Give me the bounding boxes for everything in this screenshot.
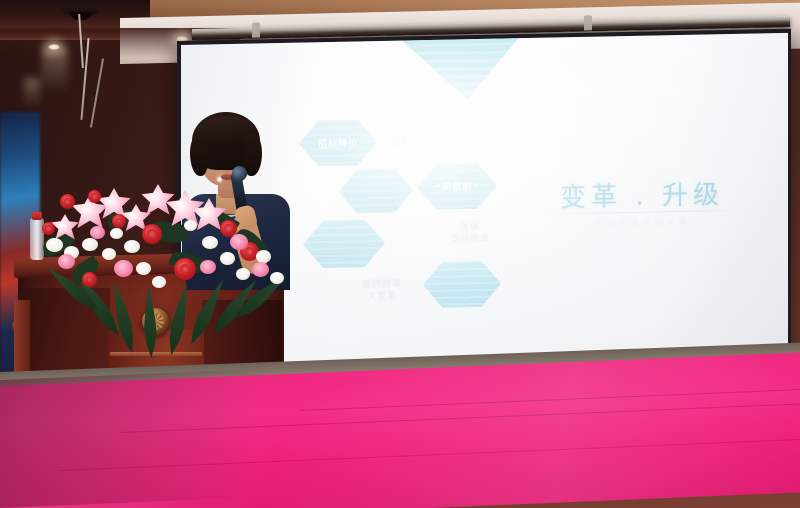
hexagon-label: 招标降价 bbox=[299, 119, 377, 167]
pink-carnation bbox=[90, 226, 105, 239]
caption-medical-insurance-line2: 支付改革 bbox=[429, 232, 511, 246]
pink-carnation bbox=[114, 260, 133, 277]
white-flower bbox=[256, 250, 271, 263]
white-flower bbox=[102, 248, 116, 260]
speaker-hair-side bbox=[244, 134, 262, 176]
pink-carnation bbox=[58, 254, 75, 269]
hexagon-blank-1 bbox=[339, 168, 413, 213]
red-rose bbox=[112, 214, 126, 228]
presentation-photo: 招标降价 “两票制” 辅助用药 医保 支付改革 医药政策 大变革 变革 bbox=[0, 0, 800, 508]
podium-slat bbox=[110, 352, 202, 356]
pink-carnation bbox=[252, 262, 269, 277]
white-flower bbox=[202, 236, 218, 249]
light-cone bbox=[24, 78, 40, 108]
hexagon-two-ticket: “两票制” bbox=[417, 163, 497, 211]
white-flower bbox=[46, 238, 63, 252]
hexagon-blank-3 bbox=[423, 261, 501, 309]
cyan-wedge-stripes bbox=[363, 33, 549, 102]
hex-stripes bbox=[303, 219, 385, 269]
hexagon-blank-2 bbox=[303, 219, 385, 269]
floral-arrangement bbox=[24, 176, 292, 324]
white-flower bbox=[220, 252, 235, 265]
white-flower bbox=[152, 276, 166, 288]
red-rose bbox=[60, 194, 75, 209]
hexagon-bidding: 招标降价 bbox=[299, 119, 377, 167]
red-rose bbox=[42, 222, 55, 235]
white-flower bbox=[236, 268, 250, 280]
red-rose bbox=[174, 258, 196, 280]
hex-stripes bbox=[423, 261, 501, 309]
hexagon-label: “两票制” bbox=[417, 163, 497, 211]
white-flower bbox=[82, 238, 98, 251]
red-rose bbox=[142, 224, 162, 244]
red-rose bbox=[82, 272, 97, 287]
slide-subtitle: 合作共赢共创未来 bbox=[517, 213, 767, 231]
white-flower bbox=[184, 220, 197, 231]
speaker-hair-side bbox=[190, 134, 208, 176]
hex-stripes bbox=[339, 168, 413, 213]
white-flower bbox=[110, 228, 123, 239]
pink-carnation bbox=[230, 234, 248, 250]
slide-title: 变革 . 升级 bbox=[517, 173, 767, 215]
pink-carnation bbox=[200, 260, 216, 274]
white-flower bbox=[124, 240, 140, 253]
white-flower bbox=[136, 262, 151, 275]
caption-policy-line2: 大变革 bbox=[343, 290, 421, 304]
light-cone bbox=[42, 48, 68, 94]
caption-auxiliary-drug: 辅助用药 bbox=[371, 136, 451, 150]
white-flower bbox=[270, 272, 284, 284]
red-rose bbox=[88, 190, 101, 203]
